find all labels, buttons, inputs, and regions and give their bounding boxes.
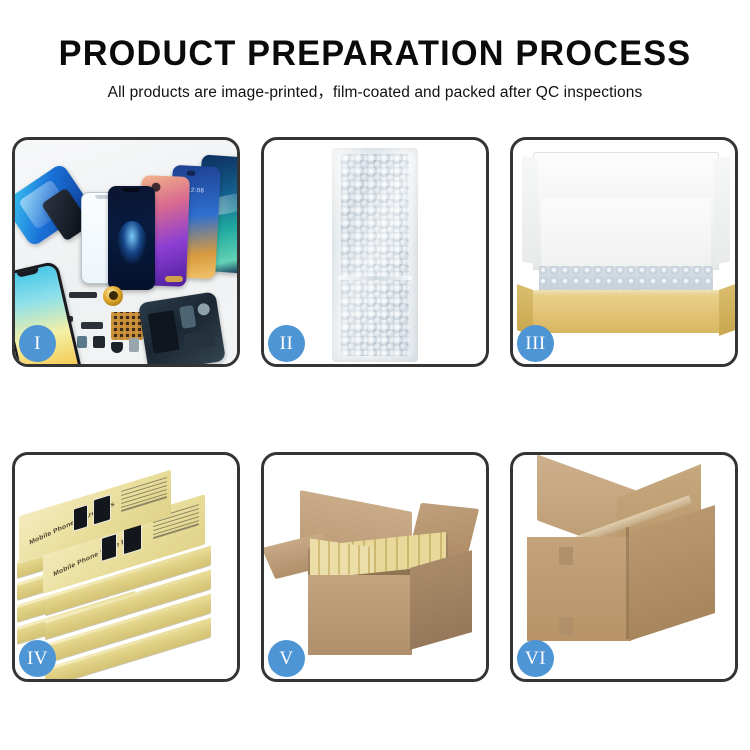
camera-module-icon [197,302,211,316]
step-badge-6: VI [517,640,554,677]
step-panel-4: Mobile Phone Spare Parts Mobile Phone Sp… [12,452,240,682]
chip-array-icon [111,312,143,340]
charging-port-icon [129,338,139,352]
step-5-image: V [264,455,486,679]
earpiece-speaker-icon [111,342,123,353]
step-panel-2: II [261,137,489,367]
step-2-image: II [264,140,486,364]
flex-cable-icon [69,292,97,298]
battery-icon [148,310,180,354]
step-1-image: 12:08 [15,140,237,364]
page-subtitle: All products are image-printed，film-coat… [0,83,750,103]
connector-strip-icon [81,322,103,329]
step-panel-5: V [261,452,489,682]
carton-side-face [410,550,472,650]
step-badge-1: I [19,325,56,362]
carton-handle-cut-bottom [559,617,573,635]
step-badge-3: III [517,325,554,362]
carton-handle-cut-top [559,547,573,565]
step-6-image: VI [513,455,735,679]
gold-flex-icon [165,276,183,282]
page-title: PRODUCT PREPARATION PROCESS [8,34,743,74]
header: PRODUCT PREPARATION PROCESS All products… [0,0,750,103]
foam-pad [541,198,711,266]
shield-plate-icon [183,330,215,350]
plastic-sheen [332,148,418,362]
logic-board-icon [179,305,196,329]
step-panel-1: 12:08 [12,137,240,367]
screen-thumbnail [93,494,111,526]
carton-front-face [308,575,412,655]
step-panel-6: VI [510,452,738,682]
vibrator-motor-icon [93,336,105,348]
step-3-image: III [513,140,735,364]
screen-thumbnail [73,504,88,532]
carton-vertical-edge [626,527,629,639]
step-4-image: Mobile Phone Spare Parts Mobile Phone Sp… [15,455,237,679]
inner-box-base [529,295,723,333]
step-badge-2: II [268,325,305,362]
screen-thumbnail [101,533,117,562]
product-preparation-infographic: PRODUCT PREPARATION PROCESS All products… [0,0,750,750]
phone-opened-rear-icon [138,291,226,364]
sim-tray-icon [77,336,87,348]
carton-front-face [527,537,631,641]
bubble-wrap-bag [332,148,418,362]
step-badge-4: IV [19,640,56,677]
step-panel-3: III [510,137,738,367]
steps-grid: 12:08 [12,137,738,682]
step-badge-5: V [268,640,305,677]
speaker-coil-icon [103,286,123,306]
